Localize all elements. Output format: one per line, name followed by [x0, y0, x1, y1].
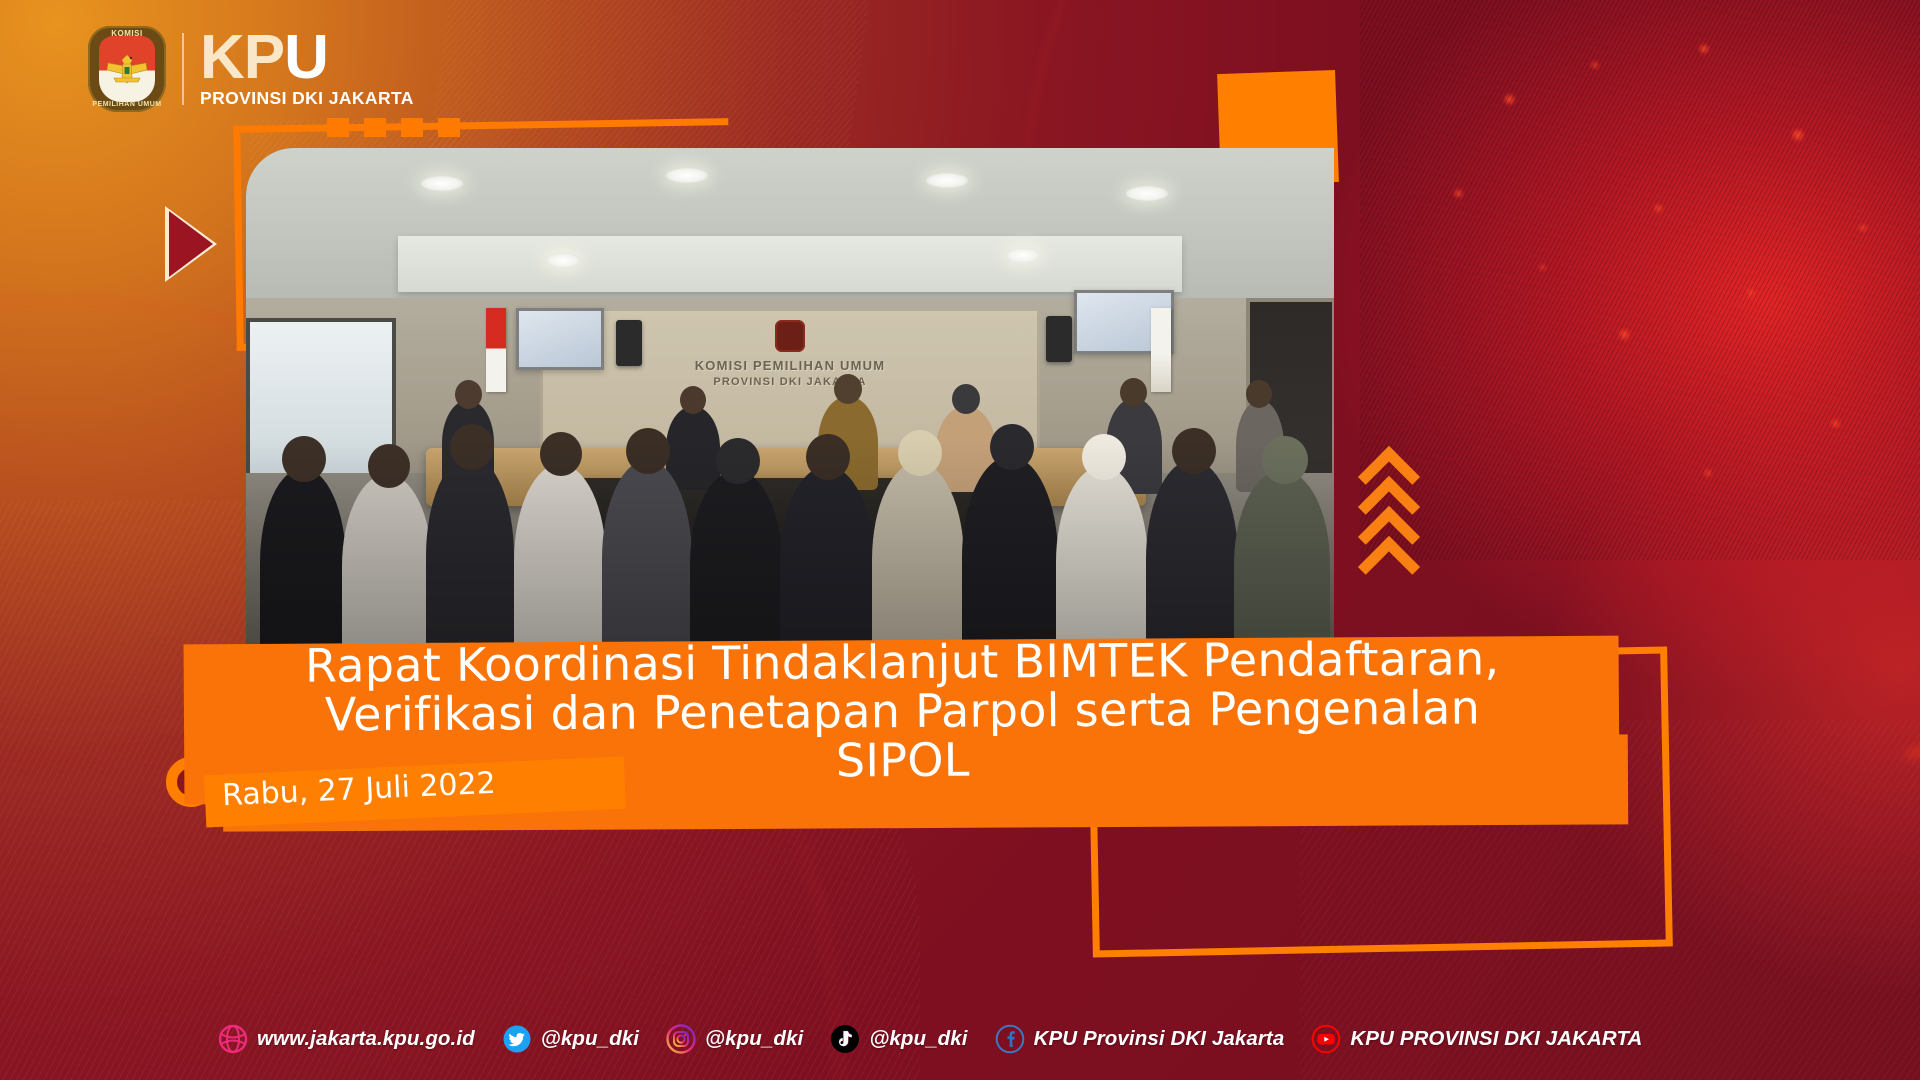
bokeh-dot [1700, 45, 1708, 53]
bokeh-dot [1705, 470, 1711, 476]
emblem-bottom-label: PEMILIHAN UMUM [88, 101, 166, 108]
social-item-website[interactable]: www.jakarta.kpu.go.id [218, 1024, 475, 1054]
bokeh-dot [1455, 190, 1462, 197]
brand-subtitle: PROVINSI DKI JAKARTA [200, 88, 414, 109]
globe-icon [218, 1024, 248, 1054]
bokeh-dot [1655, 205, 1662, 212]
instagram-icon [666, 1024, 696, 1054]
social-item-facebook[interactable]: KPU Provinsi DKI Jakarta [995, 1024, 1285, 1054]
twitter-icon [502, 1024, 532, 1054]
social-label-tiktok: @kpu_dki [869, 1027, 967, 1051]
brand-name: KPU [200, 29, 414, 86]
bokeh-dot [1540, 265, 1545, 270]
kpu-emblem-icon: KOMISI PEMILIHAN UMUM [88, 26, 166, 112]
social-item-youtube[interactable]: KPU PROVINSI DKI JAKARTA [1311, 1024, 1642, 1054]
garuda-icon [104, 51, 150, 91]
social-label-twitter: @kpu_dki [541, 1027, 639, 1051]
bokeh-dot [1860, 225, 1866, 231]
social-label-instagram: @kpu_dki [705, 1027, 803, 1051]
social-item-twitter[interactable]: @kpu_dki [502, 1024, 639, 1054]
social-label-facebook: KPU Provinsi DKI Jakarta [1034, 1027, 1285, 1051]
facebook-icon [995, 1024, 1025, 1054]
bokeh-dot [1793, 130, 1803, 140]
event-title-line2: Verifikasi dan Penetapan Parpol serta Pe… [195, 682, 1610, 739]
tiktok-icon [830, 1024, 860, 1054]
social-item-instagram[interactable]: @kpu_dki [666, 1024, 803, 1054]
bokeh-dot [1505, 95, 1514, 104]
social-media-bar: www.jakarta.kpu.go.id @kpu_dki [218, 1024, 1642, 1054]
bokeh-dot [1620, 330, 1629, 339]
bokeh-dot [1832, 420, 1839, 427]
bokeh-dot [1748, 290, 1754, 296]
poster-canvas: KOMISI PEMILIHAN UMUM KPU PROVINSI DKI J… [0, 0, 1920, 1080]
social-label-website: www.jakarta.kpu.go.id [257, 1027, 475, 1051]
play-triangle-icon [165, 206, 217, 282]
social-item-tiktok[interactable]: @kpu_dki [830, 1024, 967, 1054]
kpu-logo: KOMISI PEMILIHAN UMUM KPU PROVINSI DKI J… [88, 26, 414, 112]
social-label-youtube: KPU PROVINSI DKI JAKARTA [1350, 1027, 1642, 1051]
emblem-top-label: KOMISI [88, 29, 166, 38]
youtube-icon [1311, 1024, 1341, 1054]
logo-divider [182, 33, 184, 105]
event-photograph: KOMISI PEMILIHAN UMUM PROVINSI DKI JAKAR… [246, 148, 1334, 648]
bokeh-dot [1592, 62, 1598, 68]
